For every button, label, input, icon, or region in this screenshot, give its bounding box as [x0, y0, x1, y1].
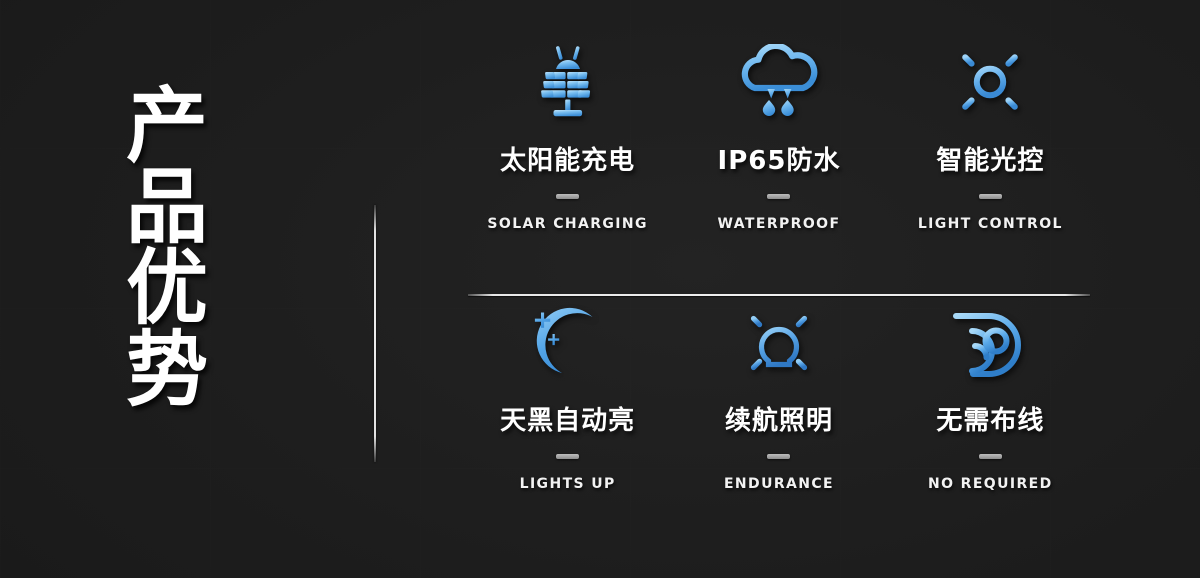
title-dash-divider — [767, 194, 790, 199]
title-dash-divider — [979, 194, 1002, 199]
page-title-char-3: 优 — [126, 248, 262, 329]
page-title-char-2: 品 — [126, 167, 262, 248]
feature-title-en: NO REQUIRED — [928, 477, 1053, 491]
sun-icon — [940, 36, 1040, 128]
feature-endurance[interactable]: 续航照明 ENDURANCE — [673, 302, 884, 491]
title-dash-divider — [979, 454, 1002, 459]
page-title-char-1: 产 — [126, 86, 262, 167]
title-dash-divider — [556, 194, 579, 199]
light-bulb-icon — [729, 302, 829, 388]
page-title-char-4: 势 — [126, 330, 262, 411]
feature-no-wiring[interactable]: 无需布线 NO REQUIRED — [885, 302, 1096, 491]
feature-waterproof[interactable]: IP65防水 WATERPROOF — [673, 36, 884, 231]
feature-title-cn: 无需布线 — [936, 408, 1044, 434]
feature-light-control[interactable]: 智能光控 LIGHT CONTROL — [885, 36, 1096, 231]
feature-title-en: SOLAR CHARGING — [487, 217, 648, 231]
feature-title-cn: 续航照明 — [725, 408, 833, 434]
feature-lights-up[interactable]: 天黑自动亮 LIGHTS UP — [462, 302, 673, 491]
page-title: 产 品 优 势 — [126, 86, 262, 411]
feature-title-en: LIGHTS UP — [520, 477, 616, 491]
feature-title-cn: 太阳能充电 — [500, 148, 635, 174]
feature-title-en: WATERPROOF — [718, 217, 841, 231]
wireless-spiral-icon — [940, 302, 1040, 388]
rain-cloud-icon — [729, 36, 829, 128]
features-grid: 太阳能充电 SOLAR CHARGING — [462, 36, 1096, 536]
vertical-divider — [374, 205, 376, 462]
feature-title-en: LIGHT CONTROL — [918, 217, 1063, 231]
feature-title-cn: IP65防水 — [718, 148, 841, 174]
features-row-bottom: 天黑自动亮 LIGHTS UP — [462, 302, 1096, 491]
feature-title-cn: 天黑自动亮 — [500, 408, 635, 434]
features-row-top: 太阳能充电 SOLAR CHARGING — [462, 36, 1096, 231]
feature-title-en: ENDURANCE — [724, 477, 834, 491]
title-dash-divider — [767, 454, 790, 459]
solar-panel-icon — [518, 36, 618, 128]
title-dash-divider — [556, 454, 579, 459]
crescent-moon-icon — [518, 302, 618, 388]
feature-title-cn: 智能光控 — [936, 148, 1044, 174]
feature-solar-charging[interactable]: 太阳能充电 SOLAR CHARGING — [462, 36, 673, 231]
product-advantages-banner: 产 品 优 势 — [0, 0, 1200, 578]
